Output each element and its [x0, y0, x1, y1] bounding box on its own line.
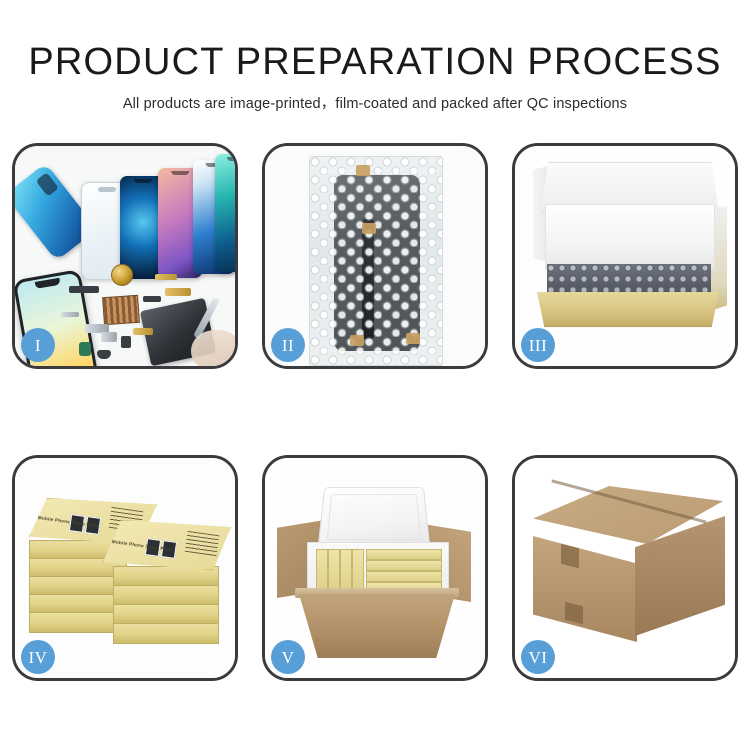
- process-step-panel-4[interactable]: Mobile Phone Spare Parts Mobile Phone Sp…: [12, 455, 238, 681]
- spare-part: [133, 328, 153, 335]
- tape-tab: [356, 165, 370, 176]
- retail-box: [113, 585, 219, 605]
- chip-grid-icon: [102, 295, 140, 325]
- process-step-panel-2[interactable]: II: [262, 143, 488, 369]
- technician-hand: [191, 330, 235, 366]
- phone-screen-icon: [215, 154, 235, 272]
- retail-box: [113, 604, 219, 624]
- step-badge-2: II: [271, 328, 305, 362]
- spare-part: [155, 274, 177, 280]
- process-step-panel-3[interactable]: III: [512, 143, 738, 369]
- retail-box-top-printed: Mobile Phone Spare Parts: [103, 520, 231, 570]
- step-badge-4: IV: [21, 640, 55, 674]
- box-print-textlines: [185, 531, 220, 557]
- kraft-box-front: [537, 292, 719, 327]
- bubble-wrap-layer: [547, 264, 711, 294]
- tape-tab: [362, 223, 376, 234]
- bubble-texture: [310, 157, 442, 365]
- spare-part: [101, 332, 117, 342]
- step-badge-3: III: [521, 328, 555, 362]
- process-step-panel-1[interactable]: I: [12, 143, 238, 369]
- carton-tape-patch: [561, 544, 579, 568]
- tape-tab: [350, 335, 364, 346]
- packed-retail-box: [366, 560, 442, 571]
- packed-retail-box: [366, 571, 442, 582]
- foam-sheet: [545, 204, 715, 270]
- page-title: PRODUCT PREPARATION PROCESS: [0, 0, 750, 84]
- retail-box: [113, 623, 219, 644]
- process-step-grid: I II: [12, 143, 738, 681]
- bubble-wrap-bag: [309, 156, 443, 366]
- process-step-panel-6[interactable]: VI: [512, 455, 738, 681]
- spare-part: [143, 296, 161, 302]
- product-preparation-infographic: PRODUCT PREPARATION PROCESS All products…: [0, 0, 750, 750]
- spare-part: [165, 288, 191, 296]
- spare-part: [61, 312, 79, 317]
- spare-part: [121, 336, 131, 348]
- header: PRODUCT PREPARATION PROCESS All products…: [0, 0, 750, 114]
- tape-tab: [406, 333, 420, 344]
- step-badge-6: VI: [521, 640, 555, 674]
- step-badge-5: V: [271, 640, 305, 674]
- spare-part: [79, 342, 91, 356]
- foam-box-lid: [317, 487, 430, 549]
- step-badge-1: I: [21, 328, 55, 362]
- page-subtitle: All products are image-printed，film-coat…: [0, 84, 750, 114]
- spare-part: [69, 286, 99, 293]
- packed-retail-box: [366, 549, 442, 560]
- speaker-coil-icon: [111, 264, 133, 286]
- process-step-panel-5[interactable]: V: [262, 455, 488, 681]
- carton-body: [299, 594, 455, 658]
